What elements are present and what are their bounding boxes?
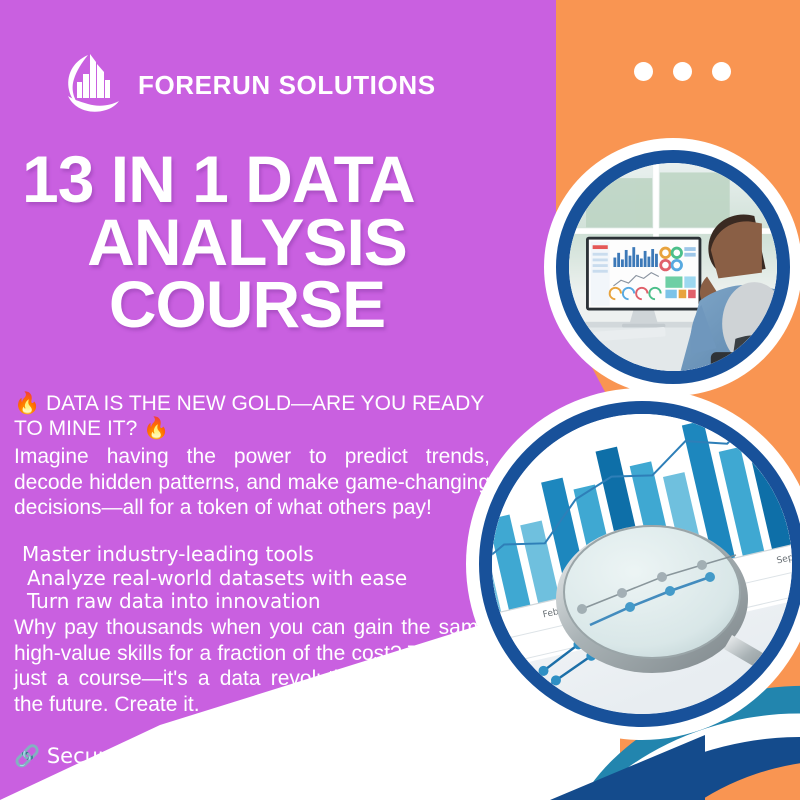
dot-icon [712, 62, 731, 81]
decorative-dots-group [634, 62, 731, 81]
body-copy: 🔥 DATA IS THE NEW GOLD—ARE YOU READY TO … [14, 392, 490, 769]
headline-line-1: 13 IN 1 DATA [12, 148, 482, 211]
page-title: 13 IN 1 DATA ANALYSIS COURSE [12, 148, 482, 336]
list-item: Turn raw data into innovation [14, 590, 490, 614]
hook-text: 🔥 DATA IS THE NEW GOLD—ARE YOU READY TO … [14, 392, 490, 442]
analyst-at-dashboard-photo [569, 163, 777, 371]
headline-line-2: ANALYSIS [12, 211, 482, 274]
skyline-leaf-logo-icon [60, 52, 122, 118]
magnifier-photo-ring: Jan Feb Mar Apr Aug Sep [479, 401, 800, 727]
list-item: Analyze real-world datasets with ease [14, 567, 490, 591]
dot-icon [673, 62, 692, 81]
promotional-poster: FORERUN SOLUTIONS 13 IN 1 DATA ANALYSIS … [0, 0, 800, 800]
paragraph-one: Imagine having the power to predict tren… [14, 444, 490, 521]
magnifier-over-charts-photo: Jan Feb Mar Apr Aug Sep [492, 414, 792, 714]
list-item: Master industry-leading tools [14, 543, 490, 567]
brand-name: FORERUN SOLUTIONS [138, 70, 436, 101]
benefit-list: Master industry-leading tools Analyze re… [14, 543, 490, 614]
analyst-photo-ring [556, 150, 790, 384]
brand-logo: FORERUN SOLUTIONS [60, 52, 436, 118]
analyst-photo-frame [544, 138, 800, 396]
call-to-action-text[interactable]: 🔗 Secure your spot NOW! [14, 744, 490, 769]
headline-line-3: COURSE [12, 273, 482, 336]
dot-icon [634, 62, 653, 81]
paragraph-two: Why pay thousands when you can gain the … [14, 615, 490, 717]
svg-text:Jan: Jan [492, 621, 499, 634]
magnifier-photo-frame: Jan Feb Mar Apr Aug Sep [466, 388, 800, 740]
